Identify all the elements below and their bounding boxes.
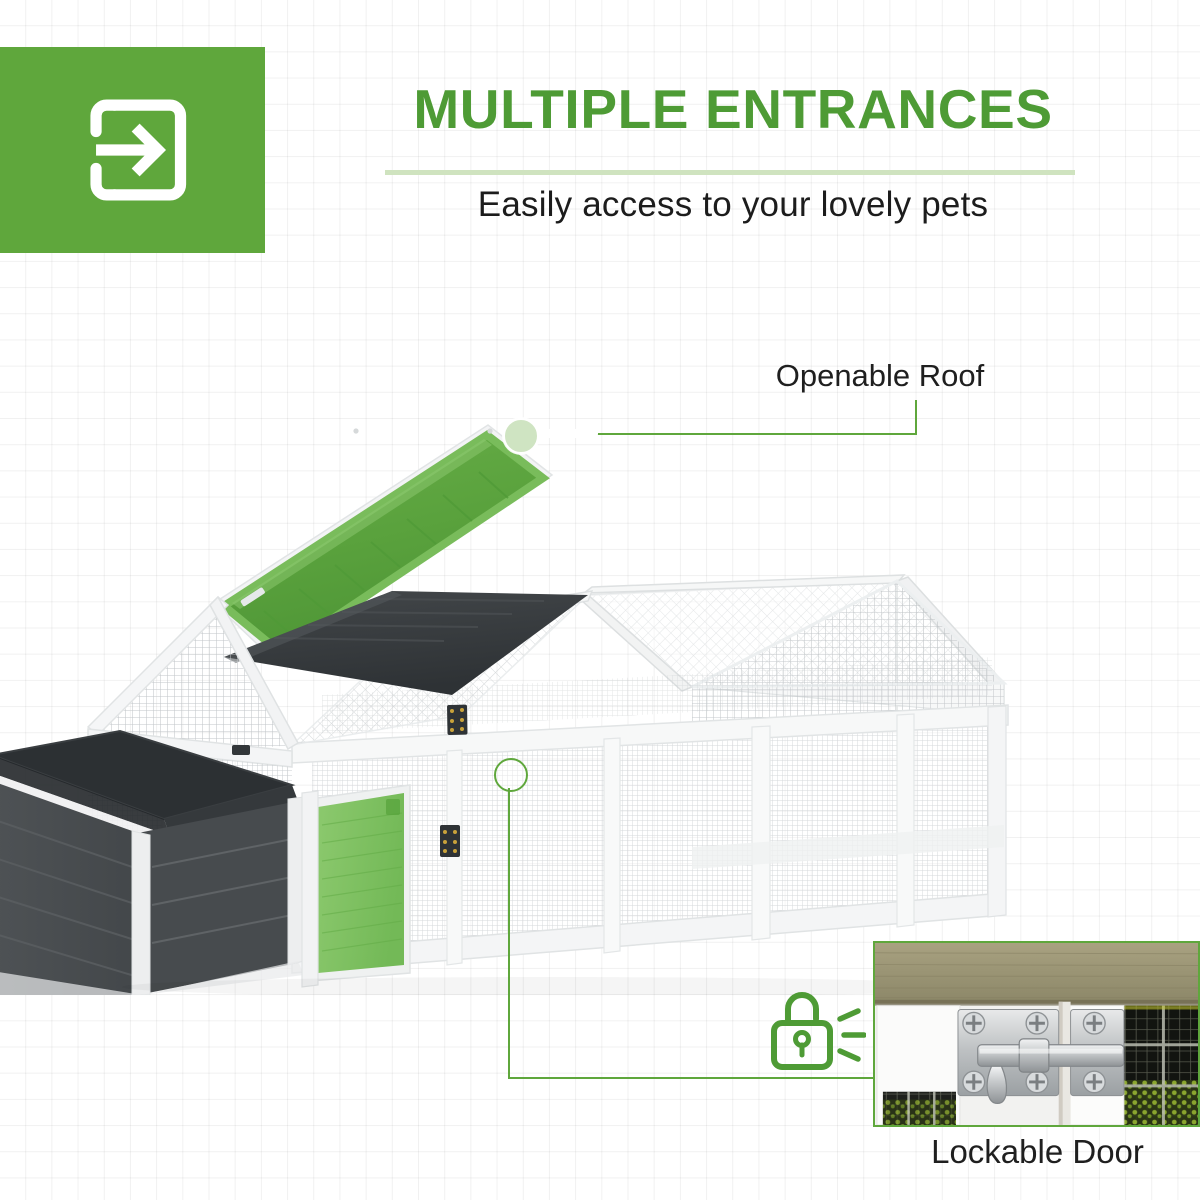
callout-lockable-door-leader-horizontal	[508, 1077, 876, 1079]
page-title: MULTIPLE ENTRANCES	[383, 82, 1083, 137]
title-divider	[385, 170, 1075, 175]
lockable-door-closeup-photo	[873, 941, 1200, 1127]
enter-arrow-icon	[67, 84, 199, 216]
infographic-page: MULTIPLE ENTRANCES Easily access to your…	[0, 0, 1200, 1200]
door-latch-circle-icon	[494, 758, 528, 792]
enter-arrow-badge	[0, 47, 265, 253]
product-illustration	[0, 395, 1082, 995]
callout-lockable-door-leader-vertical	[508, 788, 510, 1078]
inset-caption: Lockable Door	[875, 1133, 1200, 1171]
callout-openable-roof-label: Openable Roof	[700, 358, 1060, 394]
page-subtitle: Easily access to your lovely pets	[383, 183, 1083, 227]
callout-openable-roof-leader-vertical	[915, 400, 917, 435]
roof-hinge-dot-icon	[503, 418, 539, 454]
open-padlock-icon	[766, 985, 866, 1077]
